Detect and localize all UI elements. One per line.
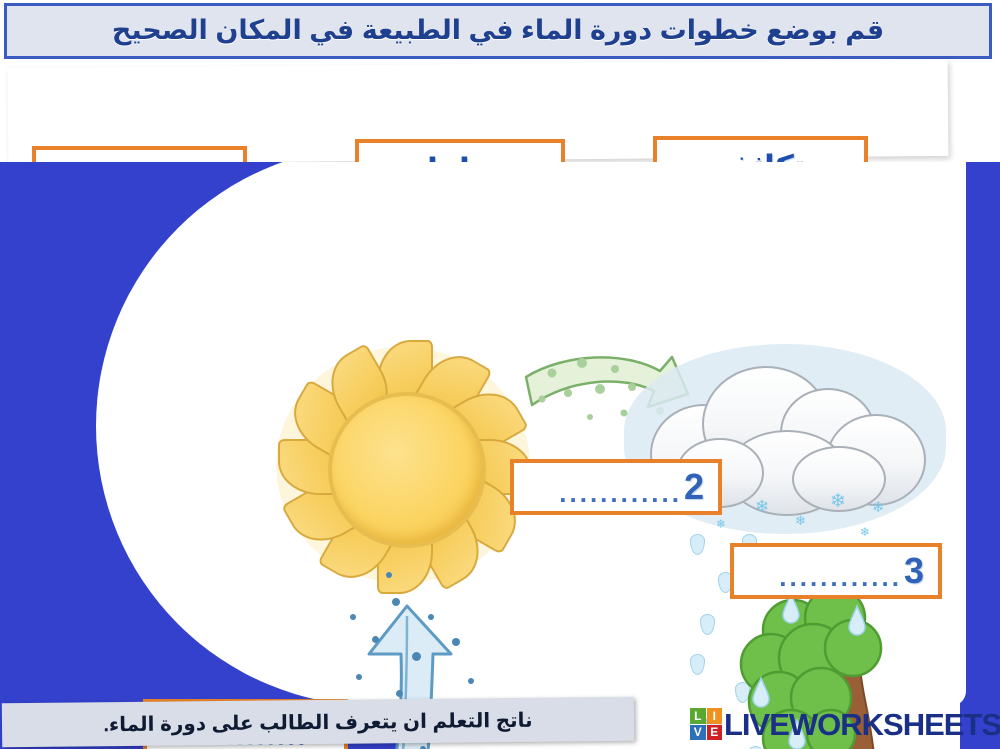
liveworksheets-logo[interactable]: L I V E LIVEWORKSHEETS bbox=[690, 707, 1000, 741]
answer-dots: ............ bbox=[779, 564, 902, 590]
answer-box-3[interactable]: ............ 3 bbox=[730, 543, 942, 599]
word-bank: تبخر هطول تكاثف bbox=[0, 62, 1000, 162]
liveworksheets-logo-grid: L I V E bbox=[690, 708, 722, 740]
water-cycle-diagram: ❄ ❄ ❄ ❄ ❄ ❄ ❄ bbox=[0, 162, 1000, 749]
sun-icon bbox=[268, 337, 538, 592]
page-title: قم بوضع خطوات دورة الماء في الطبيعة في ا… bbox=[112, 16, 884, 46]
learning-outcome-note: ناتج التعلم ان يتعرف الطالب على دورة الم… bbox=[2, 697, 634, 748]
worksheet-title-bar: قم بوضع خطوات دورة الماء في الطبيعة في ا… bbox=[4, 3, 992, 59]
logo-cell-l: L bbox=[690, 708, 706, 724]
worksheet-page: قم بوضع خطوات دورة الماء في الطبيعة في ا… bbox=[0, 0, 1000, 749]
liveworksheets-wordmark: LIVEWORKSHEETS bbox=[724, 709, 1000, 740]
learning-outcome-text: ناتج التعلم ان يتعرف الطالب على دورة الم… bbox=[103, 707, 532, 736]
answer-number: 3 bbox=[904, 553, 924, 589]
answer-dots: ............ bbox=[559, 480, 682, 506]
logo-cell-v: V bbox=[690, 725, 706, 741]
answer-number: 2 bbox=[684, 469, 704, 505]
logo-cell-e: E bbox=[707, 725, 723, 741]
answer-box-2[interactable]: ............ 2 bbox=[510, 459, 722, 515]
logo-cell-i: I bbox=[707, 708, 723, 724]
